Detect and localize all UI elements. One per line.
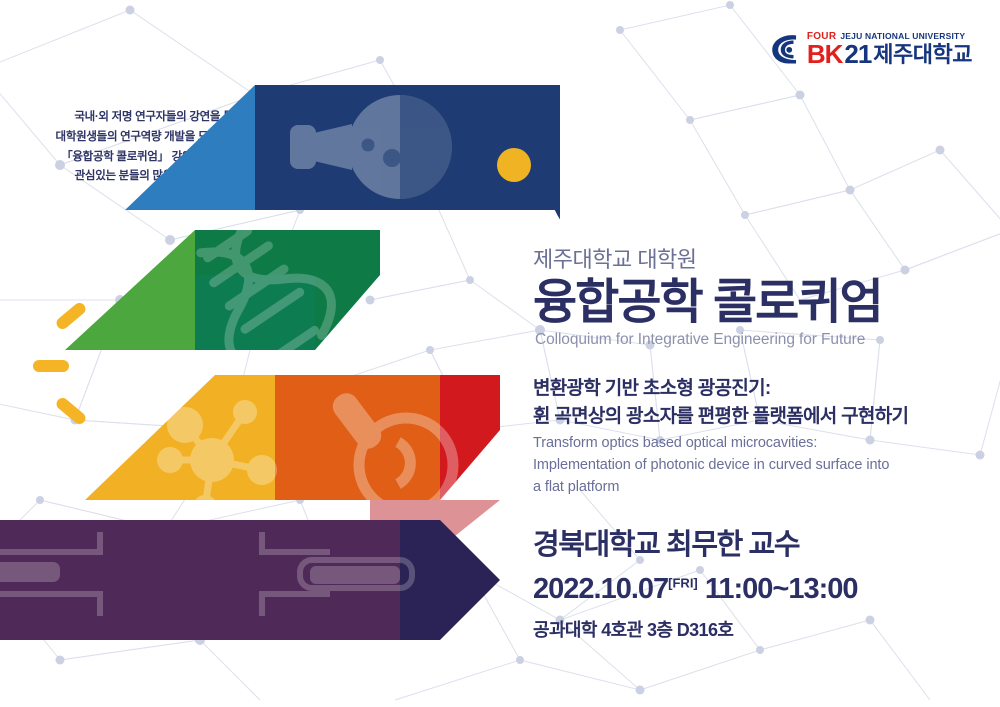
talk-title-korean: 변환광학 기반 초소형 광공진기: 휜 곡면상의 광소자를 편평한 플랫폼에서 … [533, 375, 985, 430]
block-purple [0, 520, 500, 640]
event-datetime: 2022.10.07[FRI] 11:00~13:00 [533, 573, 985, 606]
head-profile-icon [768, 32, 802, 66]
logo-university-kr: 제주대학교 [873, 44, 972, 66]
talk-title-en-line-3: a flat platform [533, 477, 985, 499]
talk-title-english: Transform optics based optical microcavi… [533, 433, 985, 498]
speaker-name: 경북대학교 최무한 교수 [533, 521, 985, 563]
event-location: 공과대학 4호관 3층 D316호 [533, 616, 985, 642]
sun-rays-icon [33, 300, 88, 426]
logo-21-text: 21 [844, 42, 871, 67]
atom-dot-yellow [497, 148, 531, 182]
poster-canvas: FOUR JEJU NATIONAL UNIVERSITY BK 21 제주대학… [0, 0, 1000, 707]
event-date: 2022.10.07 [533, 573, 668, 605]
talk-title-en-line-2: Implementation of photonic device in cur… [533, 455, 985, 477]
isometric-blocks-graphic [0, 60, 560, 640]
event-time: 11:00~13:00 [705, 573, 858, 605]
bk21-logo: FOUR JEJU NATIONAL UNIVERSITY BK 21 제주대학… [768, 32, 972, 67]
talk-title-en-line-1: Transform optics based optical microcavi… [533, 433, 985, 455]
talk-title-kr-line-1: 변환광학 기반 초소형 광공진기: [533, 375, 985, 403]
subtitle-english: Colloquium for Integrative Engineering f… [535, 331, 985, 349]
logo-bk-text: BK [807, 42, 843, 67]
talk-title-kr-line-2: 휜 곡면상의 광소자를 편평한 플랫폼에서 구현하기 [533, 403, 985, 431]
text-column: 제주대학교 대학원 융합공학 콜로퀴엄 Colloquium for Integ… [533, 246, 985, 642]
event-day-of-week: [FRI] [668, 575, 698, 590]
page-title: 융합공학 콜로퀴엄 [533, 276, 985, 330]
kicker-text: 제주대학교 대학원 [533, 246, 985, 274]
block-green [65, 206, 380, 382]
